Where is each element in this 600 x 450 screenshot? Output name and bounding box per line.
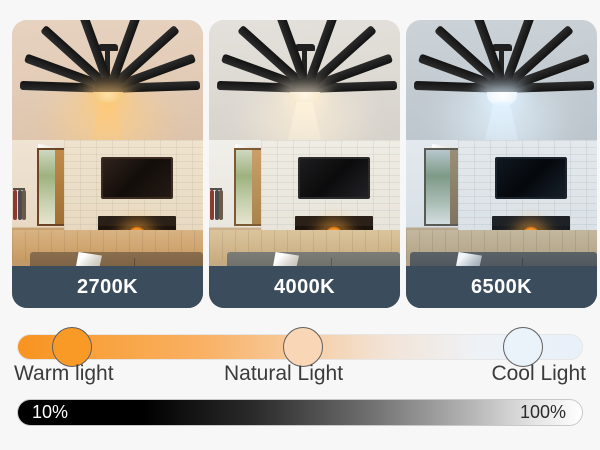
coat (219, 190, 223, 220)
panel-6500k[interactable]: 6500K (406, 20, 597, 308)
glass-door-panel (236, 150, 252, 224)
wall-mounted-tv (495, 157, 567, 199)
coat (13, 190, 17, 220)
panel-4000k[interactable]: 4000K (209, 20, 400, 308)
wall-mounted-tv (298, 157, 370, 199)
coat-rack (210, 184, 222, 224)
room-scene-2700k (12, 20, 203, 308)
panel-label-bar: 4000K (209, 266, 400, 308)
slider-thumb-warm[interactable] (52, 327, 92, 367)
glass-door-panel (426, 150, 450, 224)
brightness-min-label: 10% (32, 402, 68, 423)
product-feature-graphic: 2700K (0, 0, 600, 450)
room-scene-6500k (406, 20, 597, 308)
brightness-max-label: 100% (520, 402, 566, 423)
color-temperature-labels: Warm light Natural Light Cool Light (0, 362, 600, 392)
label-cool-light: Cool Light (491, 362, 586, 386)
slider-thumb-natural[interactable] (283, 327, 323, 367)
coat (22, 190, 26, 220)
panel-2700k[interactable]: 2700K (12, 20, 203, 308)
label-warm-light: Warm light (14, 362, 114, 386)
panel-label: 4000K (274, 276, 335, 299)
door-frame (234, 148, 262, 226)
label-natural-light: Natural Light (224, 362, 343, 386)
glass-door-panel (39, 150, 55, 224)
coat-rack (13, 184, 25, 224)
brightness-slider[interactable]: 10% 100% (17, 399, 583, 426)
color-temperature-slider[interactable] (17, 334, 583, 360)
panel-label-bar: 2700K (12, 266, 203, 308)
panel-label-bar: 6500K (406, 266, 597, 308)
room-scene-4000k (209, 20, 400, 308)
slider-thumb-cool[interactable] (503, 327, 543, 367)
panel-label: 6500K (471, 276, 532, 299)
color-temperature-panels: 2700K (0, 0, 600, 318)
door-frame (37, 148, 65, 226)
wall-mounted-tv (101, 157, 173, 199)
door-frame (424, 148, 459, 226)
panel-label: 2700K (77, 276, 138, 299)
coat (210, 190, 214, 220)
